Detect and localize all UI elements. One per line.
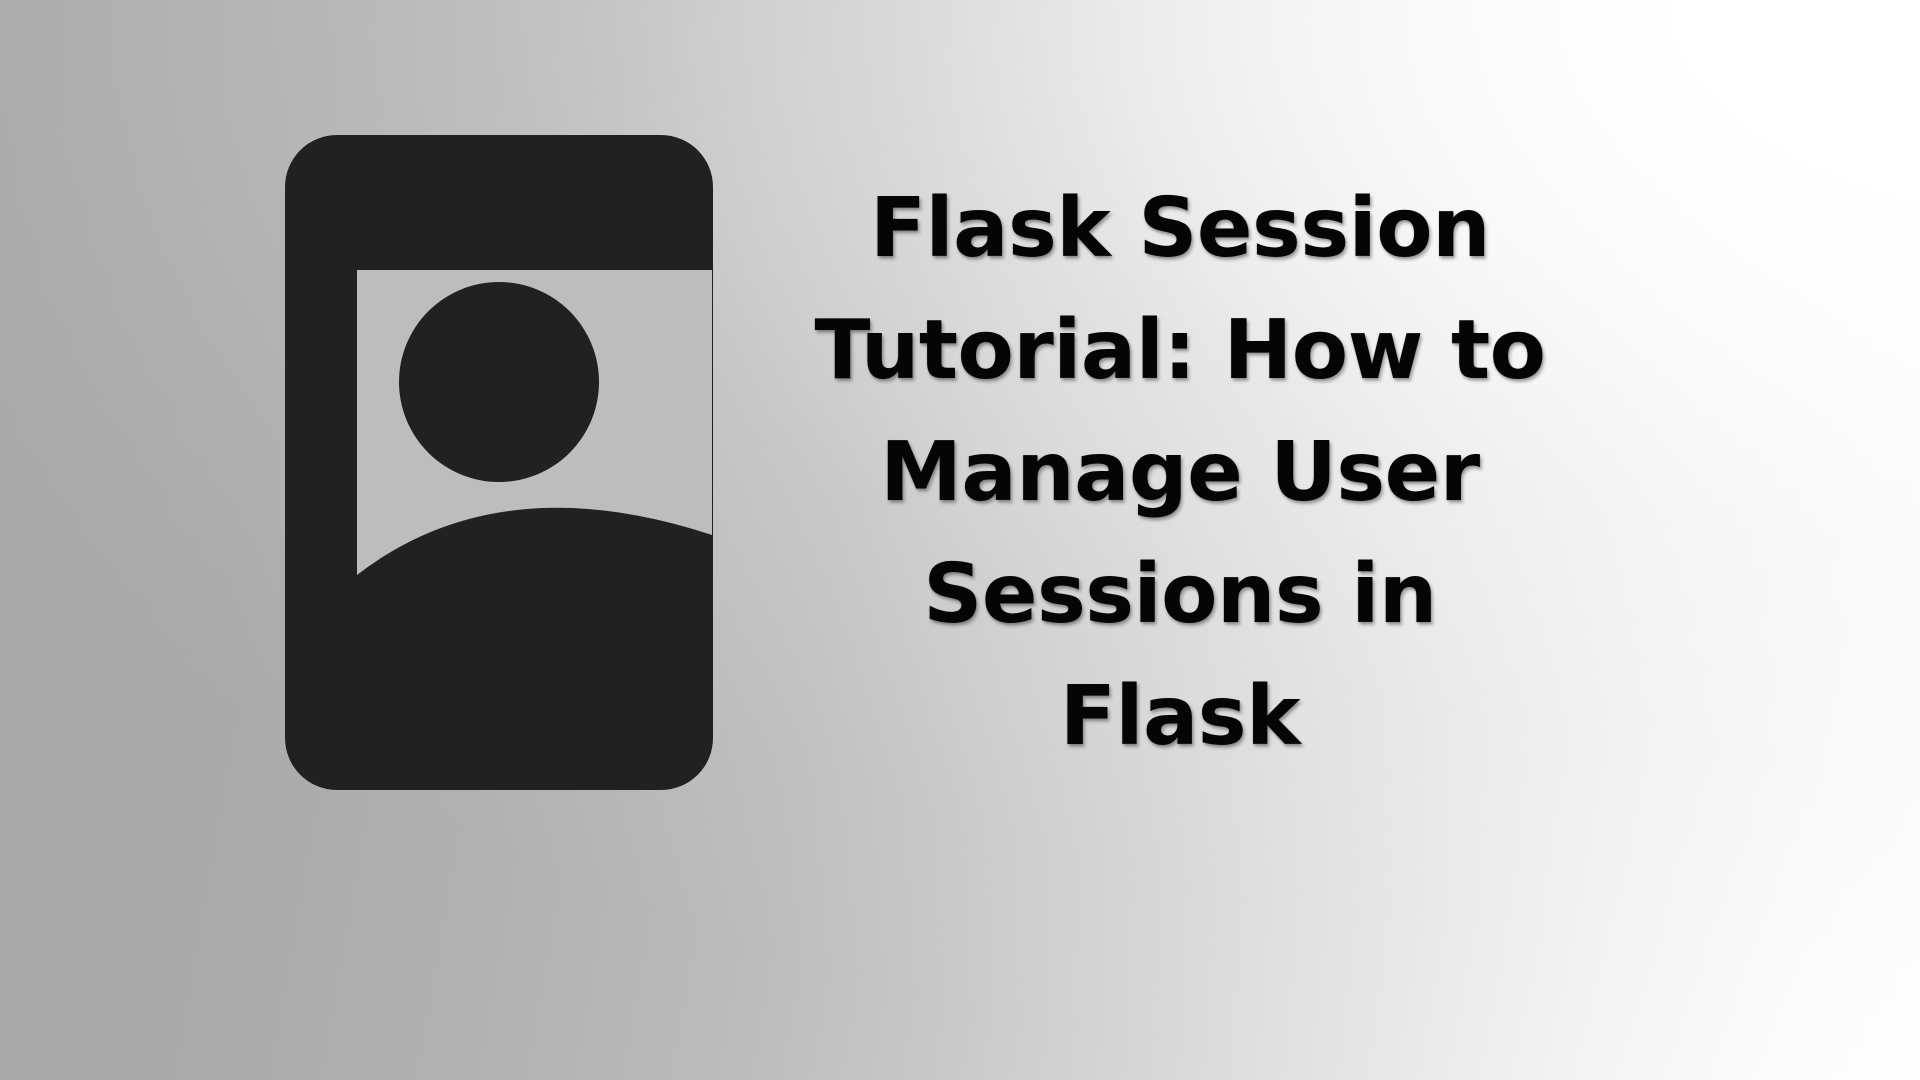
avatar-placeholder-icon bbox=[285, 135, 713, 790]
cover-canvas: Flask Session Tutorial: How to Manage Us… bbox=[0, 0, 1920, 1080]
title-line-5: Flask bbox=[800, 656, 1560, 778]
title-line-3: Manage User bbox=[800, 412, 1560, 534]
avatar-head-circle bbox=[399, 282, 599, 482]
title-line-4: Sessions in bbox=[800, 534, 1560, 656]
title-line-2: Tutorial: How to bbox=[800, 290, 1560, 412]
title-line-1: Flask Session bbox=[800, 168, 1560, 290]
page-title: Flask Session Tutorial: How to Manage Us… bbox=[800, 168, 1560, 778]
